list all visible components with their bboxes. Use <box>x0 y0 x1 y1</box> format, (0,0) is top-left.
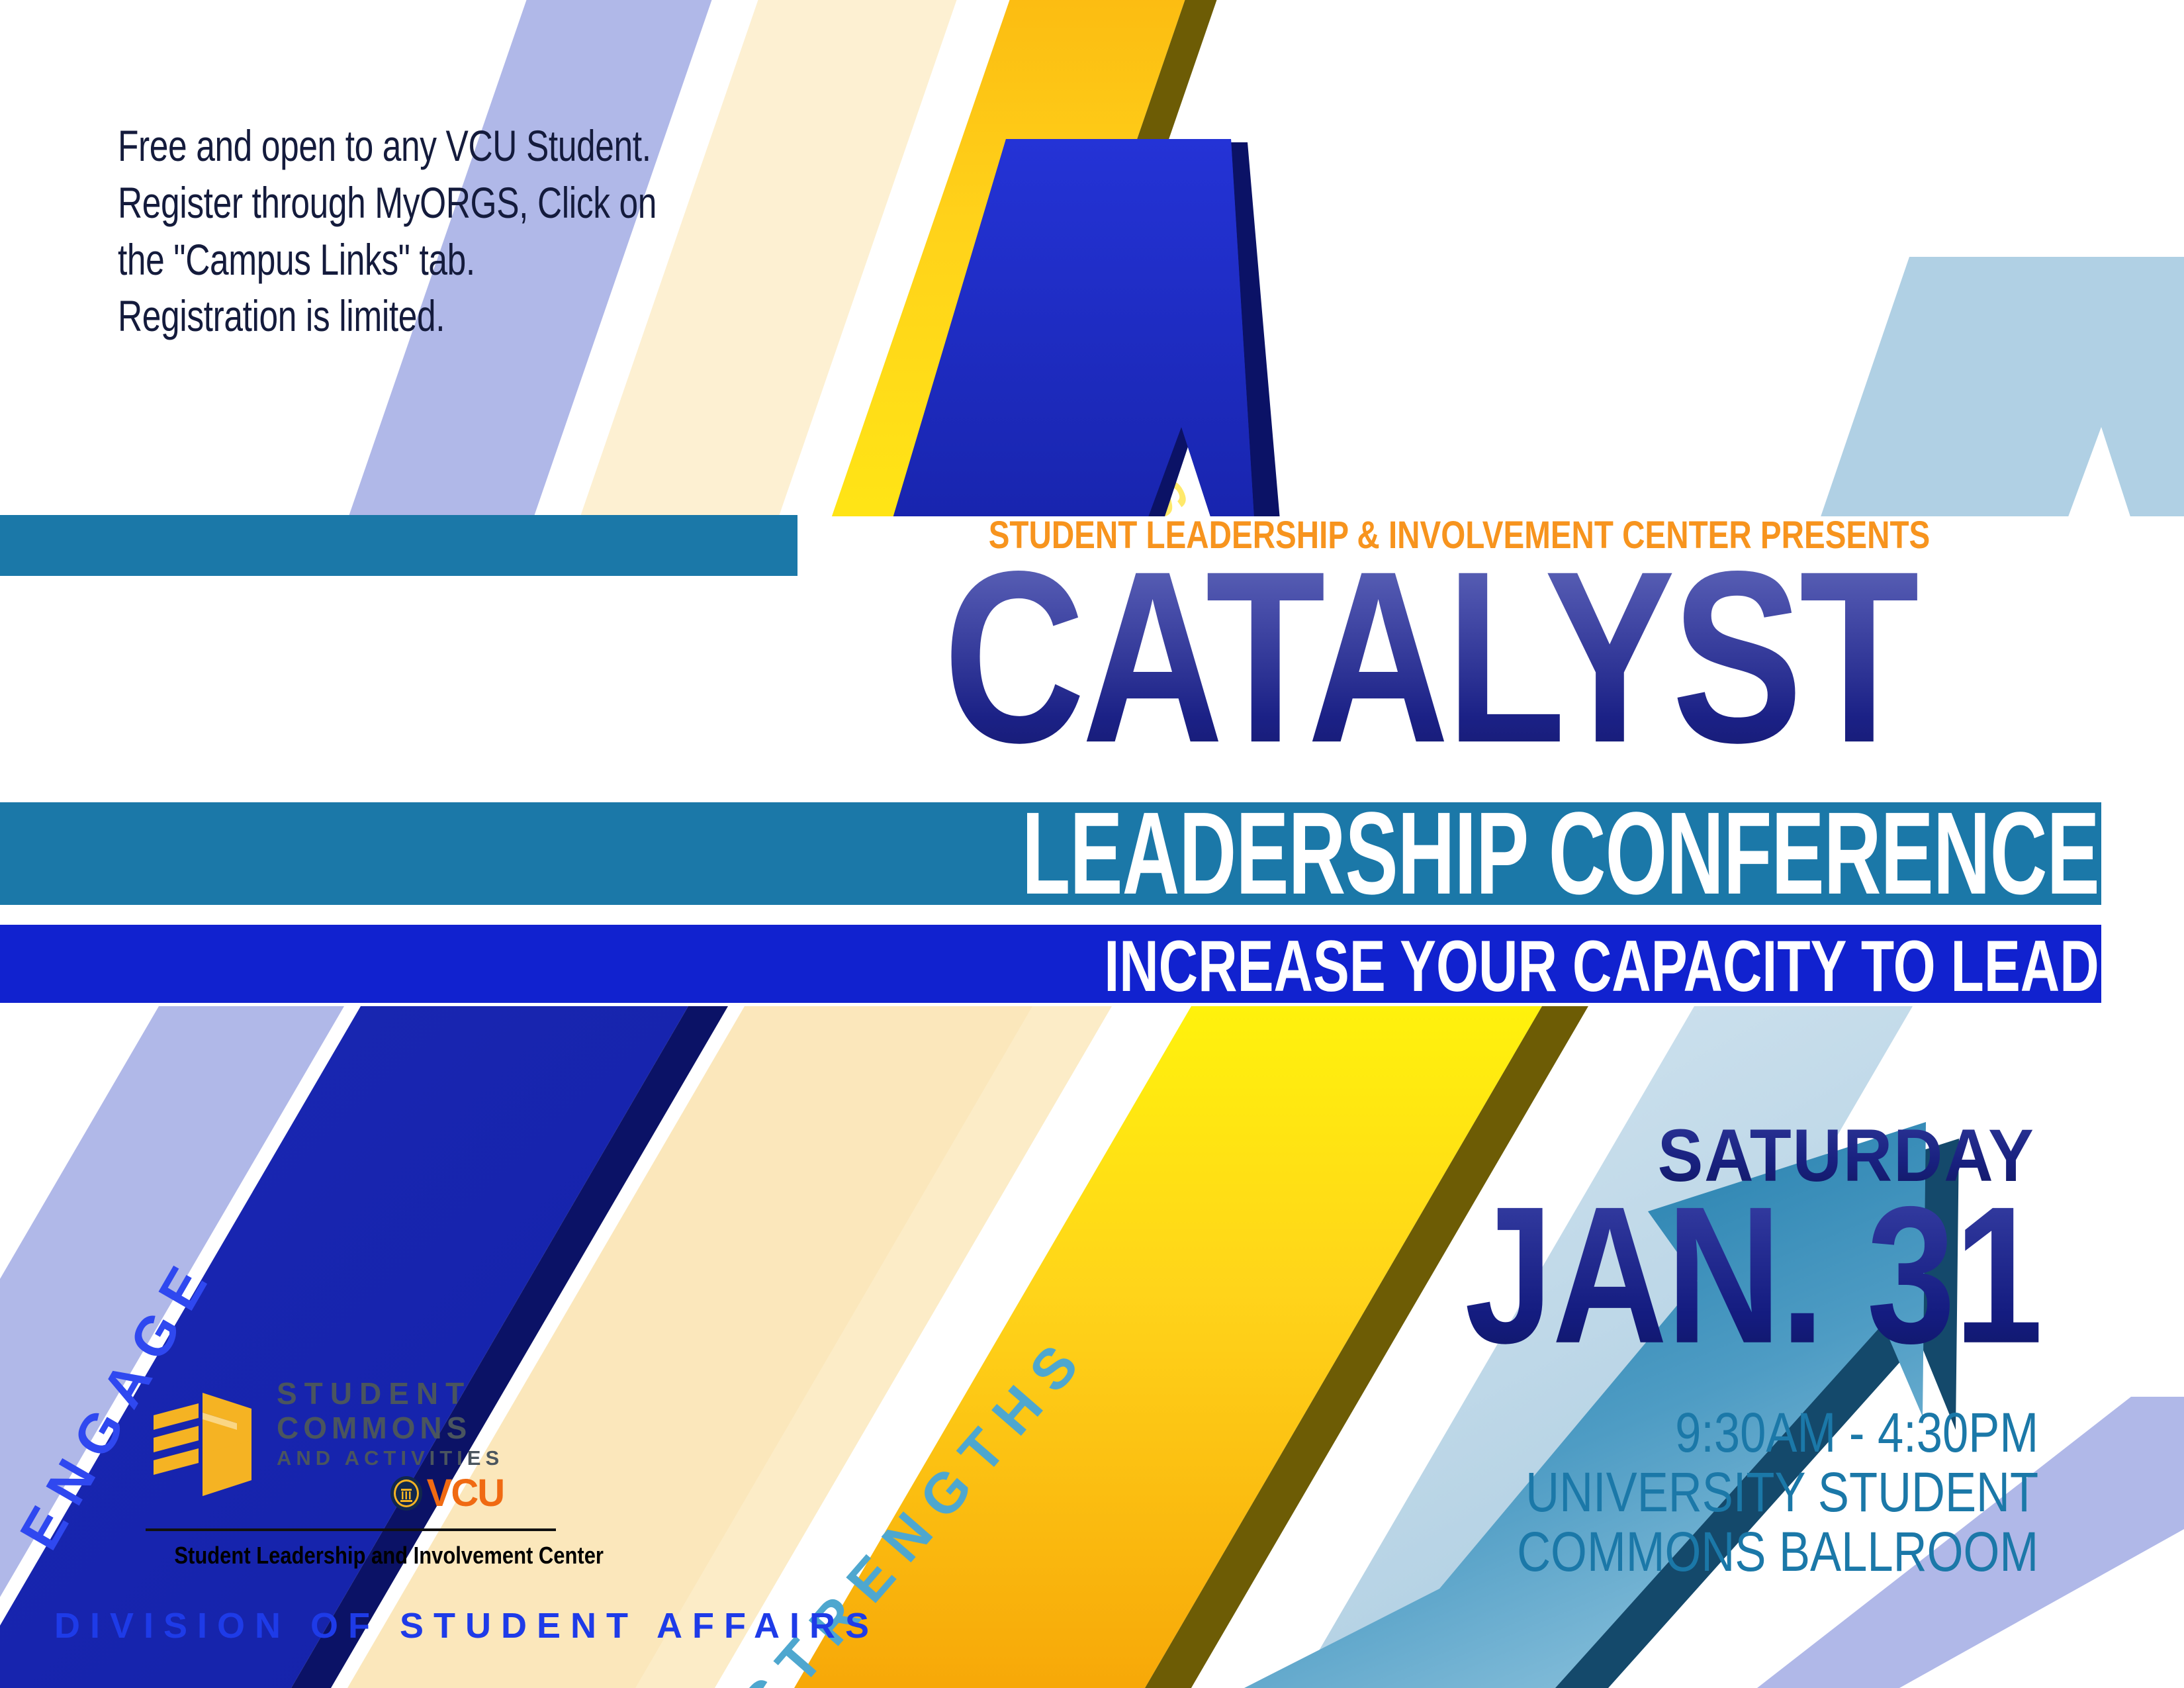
page-title: CATALYST <box>891 549 1969 765</box>
poster-canvas: LEADERSHIP STUDENT LEADERSHIP & INVOLVEM… <box>0 0 2184 1688</box>
event-time: 9:30AM - 4:30PM <box>1517 1403 2038 1463</box>
intro-line-3: the "Campus Links" tab. <box>118 232 696 289</box>
event-time-and-venue: 9:30AM - 4:30PM UNIVERSITY STUDENT COMMO… <box>1517 1403 2038 1582</box>
vcu-wordmark: VCU <box>427 1476 504 1511</box>
intro-line-4: Registration is limited. <box>118 288 696 345</box>
division-line: DIVISION OF STUDENT AFFAIRS <box>54 1605 879 1646</box>
event-venue-line-1: UNIVERSITY STUDENT <box>1517 1463 2038 1523</box>
intro-line-2: Register through MyORGS, Click on <box>118 175 696 232</box>
teal-accent-bar-left <box>0 515 797 576</box>
logo-line-2: COMMONS <box>277 1411 471 1446</box>
tagline-text: INCREASE YOUR CAPACITY TO LEAD <box>1105 924 2099 1007</box>
intro-paragraph: Free and open to any VCU Student. Regist… <box>118 118 696 345</box>
logo-divider <box>146 1528 556 1531</box>
vcu-seal-icon <box>388 1476 424 1511</box>
logo-line-1: STUDENT <box>277 1377 471 1411</box>
event-venue-line-2: COMMONS BALLROOM <box>1517 1523 2038 1582</box>
event-date: JAN. 31 <box>1465 1177 2042 1372</box>
subtitle-text: LEADERSHIP CONFERENCE <box>1022 794 2099 912</box>
logo-line-3: AND ACTIVITIES <box>277 1445 504 1472</box>
intro-line-1: Free and open to any VCU Student. <box>118 118 696 175</box>
organization-logo-block: STUDENT COMMONS AND ACTIVITIES VCU <box>146 1377 556 1570</box>
student-commons-building-icon <box>146 1389 259 1500</box>
department-name: Student Leadership and Involvement Cente… <box>174 1542 527 1570</box>
